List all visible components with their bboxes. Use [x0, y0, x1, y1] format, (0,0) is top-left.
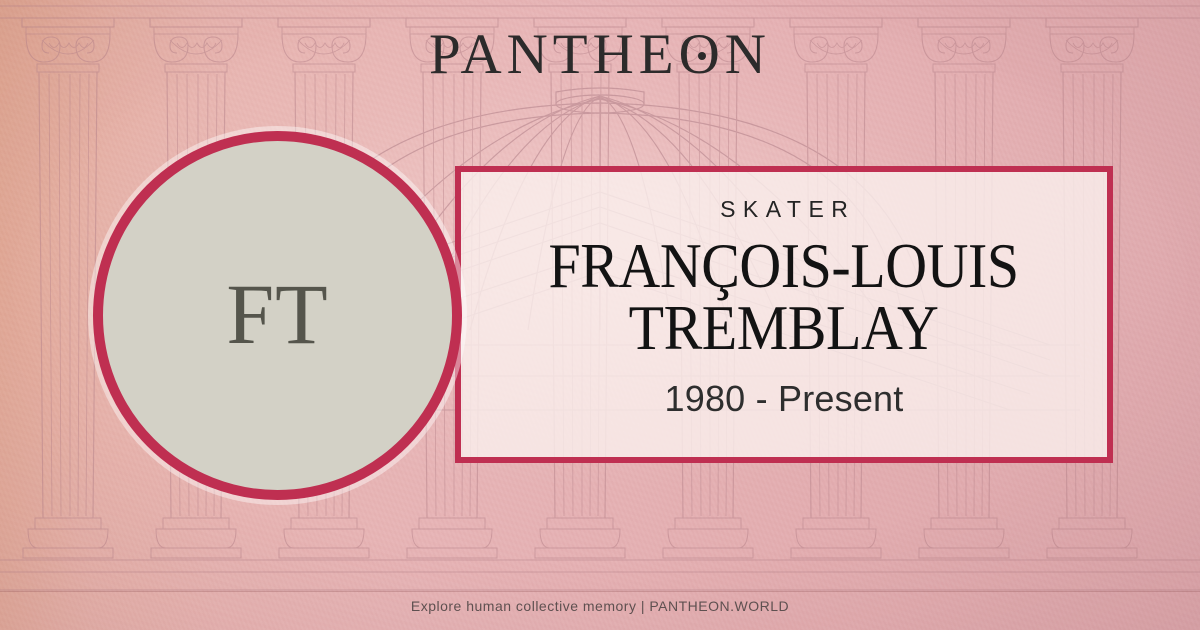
wordmark-text-after: N: [725, 23, 771, 86]
pantheon-profile-card: PANTHEON SKATER FRANÇOIS-LOUIS TREMBLAY …: [0, 0, 1200, 630]
oculus-dot-icon: [698, 52, 706, 60]
avatar[interactable]: FT: [88, 126, 467, 505]
avatar-circle: FT: [93, 131, 462, 500]
footer-tagline[interactable]: Explore human collective memory | PANTHE…: [0, 598, 1200, 614]
person-info-card-content: SKATER FRANÇOIS-LOUIS TREMBLAY 1980 - Pr…: [461, 172, 1107, 457]
wordmark-o-letter: O: [679, 26, 725, 83]
avatar-initials: FT: [226, 271, 328, 357]
footer-divider: [0, 591, 1200, 592]
person-info-card: SKATER FRANÇOIS-LOUIS TREMBLAY 1980 - Pr…: [455, 166, 1113, 463]
person-name-line-2: TREMBLAY: [549, 297, 1019, 359]
pantheon-wordmark[interactable]: PANTHEON: [0, 26, 1200, 83]
lifespan-label: 1980 - Present: [665, 378, 904, 420]
wordmark-text-before: PANTHE: [429, 23, 679, 86]
person-name-line-1: FRANÇOIS-LOUIS: [549, 235, 1019, 297]
person-name: FRANÇOIS-LOUIS TREMBLAY: [549, 235, 1019, 360]
occupation-label: SKATER: [713, 196, 856, 223]
